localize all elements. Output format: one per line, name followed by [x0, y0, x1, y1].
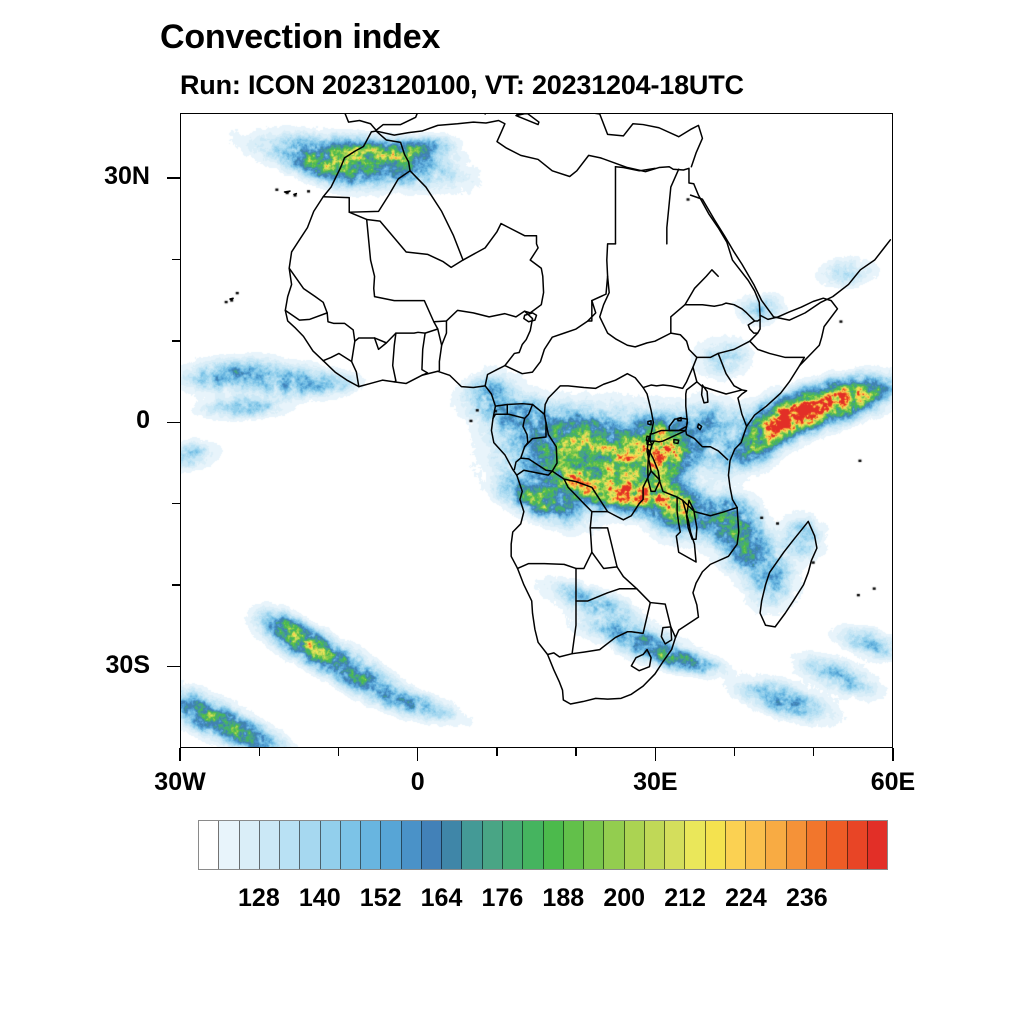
border-path — [750, 341, 805, 365]
border-path — [576, 589, 637, 601]
country-borders-overlay — [181, 114, 892, 747]
colorbar-cell — [442, 821, 462, 869]
colorbar-cell — [746, 821, 766, 869]
colorbar-cell — [341, 821, 361, 869]
colorbar-cell — [422, 821, 442, 869]
y-tick — [172, 503, 180, 504]
border-path — [289, 268, 438, 343]
x-axis-label: 30E — [605, 768, 705, 797]
colorbar-cell — [665, 821, 685, 869]
x-tick — [259, 748, 260, 756]
colorbar-cell — [564, 821, 584, 869]
y-tick — [172, 340, 180, 341]
y-tick — [172, 584, 180, 585]
border-path — [505, 244, 616, 374]
y-axis-label: 0 — [30, 406, 150, 435]
x-tick — [655, 748, 656, 761]
colorbar-cell — [483, 821, 503, 869]
border-path — [631, 650, 651, 671]
colorbar-cell — [766, 821, 786, 869]
map-plot-area — [180, 113, 893, 748]
border-path — [294, 194, 296, 196]
border-path — [442, 321, 447, 345]
border-path — [648, 421, 651, 425]
colorbar-cell — [726, 821, 746, 869]
colorbar-tick-label: 236 — [767, 884, 847, 913]
colorbar-cell — [584, 821, 604, 869]
colorbar-cell — [300, 821, 320, 869]
border-path — [507, 404, 532, 405]
colorbar-cell — [625, 821, 645, 869]
border-path — [495, 404, 524, 418]
x-tick — [496, 748, 497, 756]
border-path — [514, 458, 552, 471]
colorbar — [198, 820, 888, 870]
colorbar-cell — [402, 821, 422, 869]
border-path — [422, 333, 428, 375]
border-path — [649, 431, 737, 516]
border-path — [697, 315, 760, 357]
x-tick — [417, 748, 418, 761]
colorbar-cell — [260, 821, 280, 869]
border-path — [438, 329, 442, 371]
y-axis-label: 30N — [30, 162, 150, 191]
border-path — [323, 131, 410, 212]
border-path — [676, 497, 696, 562]
border-path — [592, 552, 617, 568]
colorbar-cell — [321, 821, 341, 869]
border-path — [693, 367, 742, 394]
colorbar-cell — [199, 821, 219, 869]
border-path — [671, 270, 718, 333]
border-path — [230, 298, 233, 300]
border-path — [643, 388, 653, 439]
y-axis-label: 30S — [30, 651, 150, 680]
x-tick — [179, 748, 180, 761]
border-path — [548, 568, 576, 656]
run-valid-time-subtitle: Run: ICON 2023120100, VT: 20231204-18UTC — [180, 70, 744, 101]
border-path — [523, 404, 544, 446]
colorbar-cell — [361, 821, 381, 869]
x-tick — [813, 748, 814, 756]
y-tick — [167, 666, 180, 667]
y-tick — [167, 177, 180, 178]
colorbar-cell — [848, 821, 868, 869]
border-path — [285, 191, 290, 193]
border-path — [352, 341, 359, 386]
x-axis-label: 0 — [368, 768, 468, 797]
border-path — [323, 353, 351, 361]
border-path — [518, 528, 592, 569]
border-path — [661, 627, 671, 644]
colorbar-cell — [706, 821, 726, 869]
border-path — [393, 333, 396, 382]
border-path — [667, 169, 679, 244]
border-path — [590, 471, 675, 637]
colorbar-cell — [503, 821, 523, 869]
border-path — [285, 310, 327, 320]
x-tick — [892, 748, 893, 761]
y-tick — [172, 259, 180, 260]
border-path — [685, 303, 755, 321]
border-path — [572, 603, 650, 654]
border-path — [760, 521, 817, 626]
border-path — [517, 276, 697, 475]
border-path — [564, 479, 592, 511]
colorbar-cell — [827, 821, 847, 869]
colorbar-cell — [645, 821, 665, 869]
page-title: Convection index — [160, 18, 440, 57]
colorbar-cell — [868, 821, 887, 869]
border-path — [285, 120, 837, 704]
x-axis-label: 60E — [843, 768, 943, 797]
border-path — [698, 424, 702, 430]
x-axis-label: 30W — [130, 768, 230, 797]
border-path — [485, 311, 532, 386]
border-path — [691, 195, 891, 320]
border-path — [513, 114, 703, 167]
colorbar-cell — [381, 821, 401, 869]
colorbar-cell — [685, 821, 705, 869]
border-path — [493, 414, 507, 418]
border-path — [674, 439, 679, 443]
border-path — [367, 219, 544, 321]
colorbar-cell — [523, 821, 543, 869]
colorbar-cell — [462, 821, 482, 869]
border-path — [552, 471, 607, 512]
y-tick — [167, 422, 180, 423]
x-tick — [575, 748, 576, 756]
colorbar-cell — [280, 821, 300, 869]
colorbar-cell — [807, 821, 827, 869]
colorbar-cell — [240, 821, 260, 869]
colorbar-cell — [544, 821, 564, 869]
border-path — [516, 114, 539, 125]
colorbar-cell — [787, 821, 807, 869]
x-tick — [734, 748, 735, 756]
colorbar-cell — [219, 821, 239, 869]
border-path — [343, 114, 443, 130]
colorbar-cell — [604, 821, 624, 869]
x-tick — [338, 748, 339, 756]
